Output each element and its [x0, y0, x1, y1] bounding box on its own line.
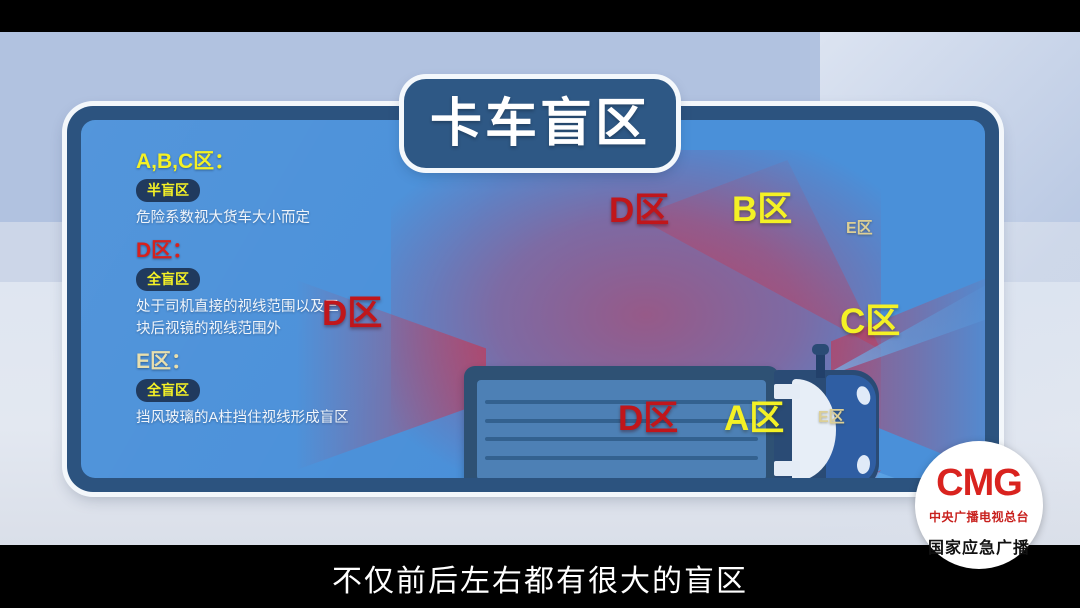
infographic-card-inner: A,B,C区： 半盲区 危险系数视大货车大小而定 D区： 全盲区 处于司机直接的…	[81, 120, 985, 478]
logo-channel-name: 国家应急广播	[913, 541, 1045, 557]
zone-label-top-b: B区	[732, 192, 792, 227]
zone-label-rear-d: D区	[322, 296, 382, 331]
legend-block-abc: A,B,C区： 半盲区 危险系数视大货车大小而定	[136, 150, 351, 230]
cab-side-panel-top	[774, 384, 800, 399]
letterbox-top	[0, 0, 1080, 32]
zone-label-bottom-e: E区	[818, 410, 845, 426]
zone-label-top-e: E区	[846, 221, 873, 237]
logo-wordmark: CMG	[915, 464, 1043, 502]
cmg-logo: CMG 中央广播电视总台 国家应急广播	[915, 441, 1043, 569]
legend-text-abc: 危险系数视大货车大小而定	[136, 207, 351, 229]
subtitle-caption: 不仅前后左右都有很大的盲区	[0, 556, 1080, 600]
zone-label-right-c: C区	[840, 304, 900, 339]
legend-heading-e: E区：	[136, 350, 351, 373]
legend-block-d: D区： 全盲区 处于司机直接的视线范围以及三块后视镜的视线范围外	[136, 239, 351, 341]
legend-badge-abc: 半盲区	[136, 179, 200, 202]
cab-mirror-top	[812, 344, 829, 355]
legend-text-d: 处于司机直接的视线范围以及三块后视镜的视线范围外	[136, 296, 351, 341]
page-title: 卡车盲区	[404, 79, 676, 168]
legend-text-e: 挡风玻璃的A柱挡住视线形成盲区	[136, 407, 351, 429]
legend-badge-e: 全盲区	[136, 379, 200, 402]
legend-heading-d: D区：	[136, 239, 351, 262]
zone-label-top-d: D区	[609, 193, 669, 228]
zone-label-bottom-a: A区	[724, 401, 784, 436]
zone-label-bottom-d: D区	[618, 401, 678, 436]
legend-block-e: E区： 全盲区 挡风玻璃的A柱挡住视线形成盲区	[136, 350, 351, 430]
legend-heading-abc: A,B,C区：	[136, 150, 351, 173]
cab-side-panel-bottom	[774, 461, 800, 476]
trailer-rib	[485, 456, 758, 460]
screenshot-stage: A,B,C区： 半盲区 危险系数视大货车大小而定 D区： 全盲区 处于司机直接的…	[0, 0, 1080, 608]
page-title-text: 卡车盲区	[430, 98, 650, 150]
legend-badge-d: 全盲区	[136, 268, 200, 291]
logo-org-name: 中央广播电视总台	[915, 511, 1043, 523]
legend-panel: A,B,C区： 半盲区 危险系数视大货车大小而定 D区： 全盲区 处于司机直接的…	[136, 150, 351, 438]
